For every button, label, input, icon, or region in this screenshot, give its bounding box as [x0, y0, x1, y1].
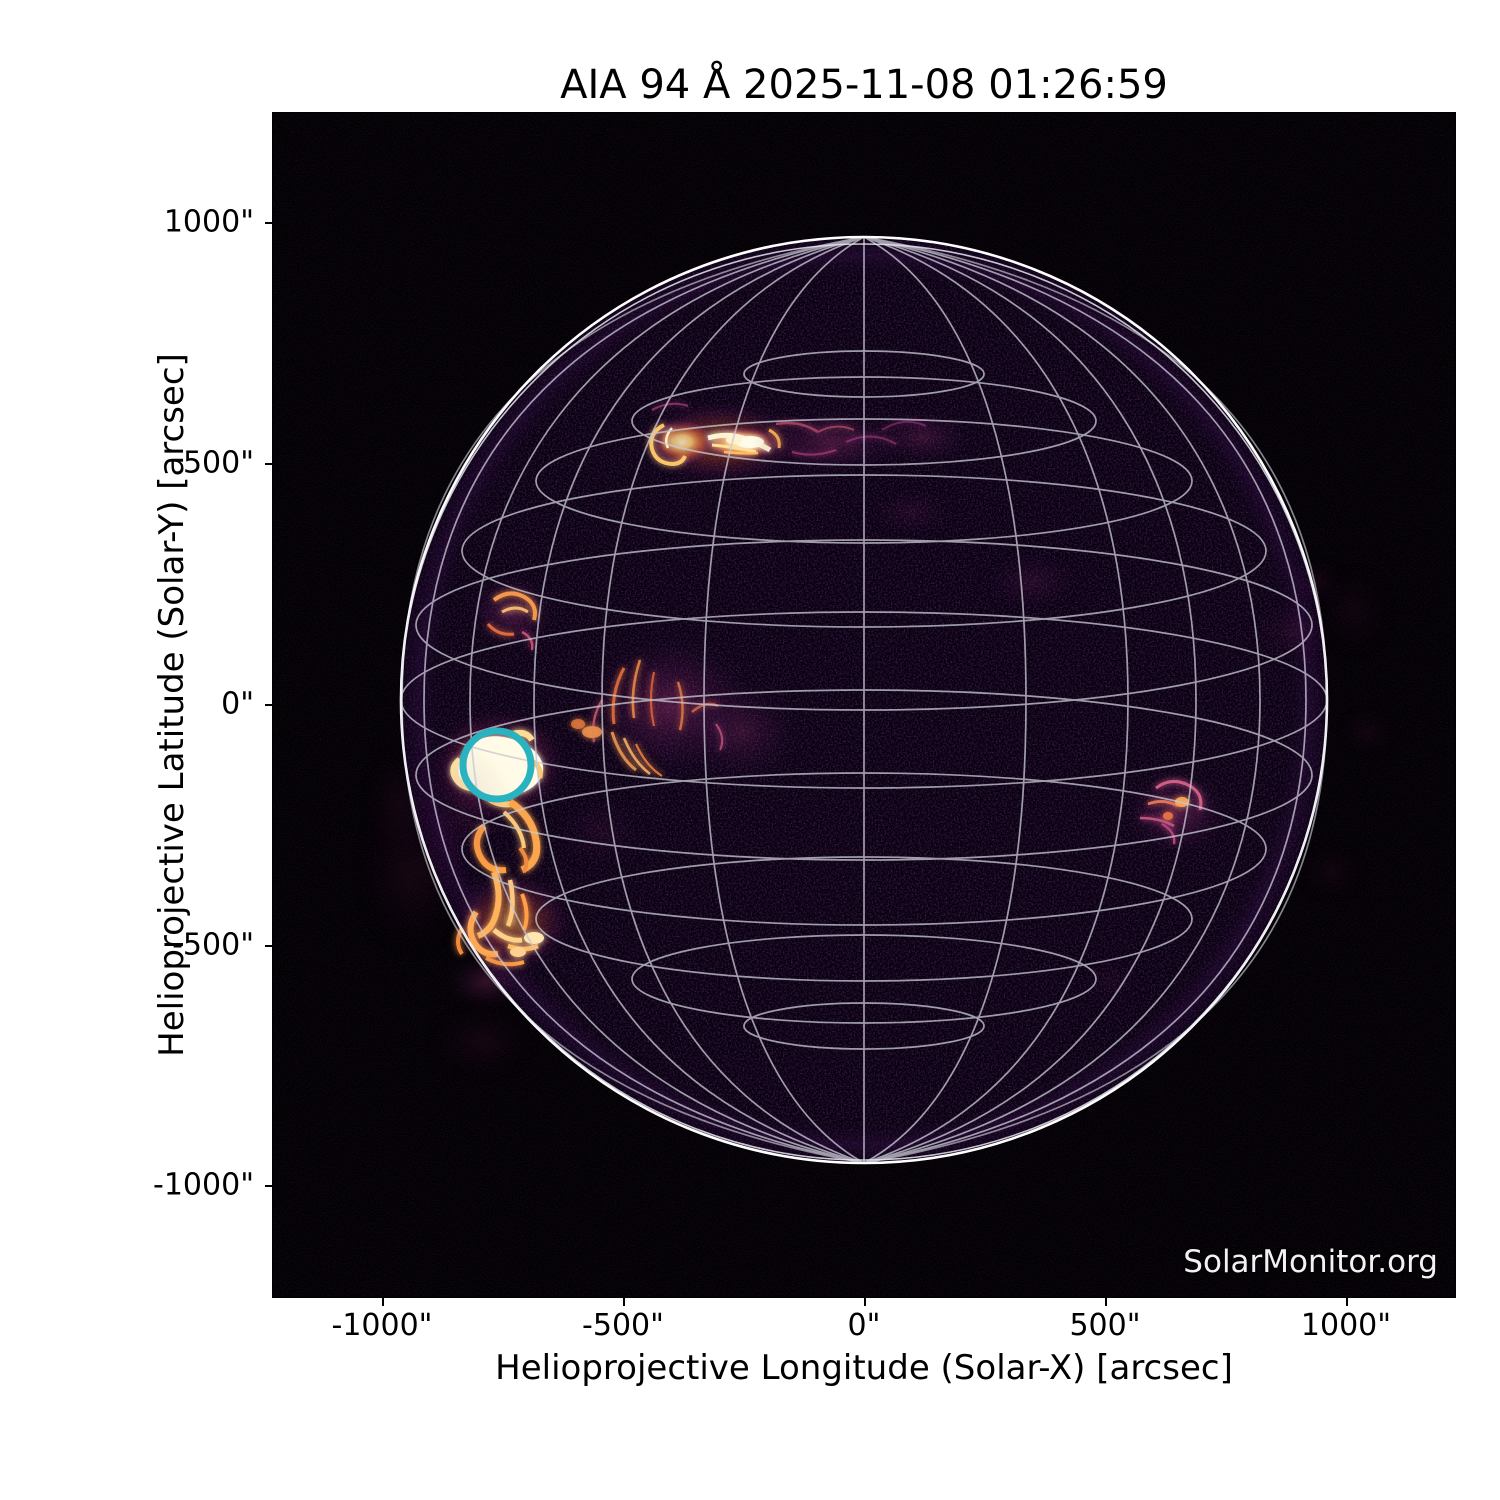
solar-image-figure: AIA 94 Å 2025-11-08 01:26:59 [0, 0, 1500, 1500]
solarmonitor-watermark: SolarMonitor.org [1183, 1244, 1438, 1280]
ytick-label-500: 500" [183, 446, 254, 481]
y-axis-label: Helioprojective Latitude (Solar-Y) [arcs… [152, 112, 192, 1298]
plage-northwest [464, 570, 560, 654]
ytick-mark-1000 [265, 222, 273, 224]
ytick-mark-500 [265, 463, 273, 465]
xtick-mark-neg500 [623, 1298, 625, 1306]
xtick-label-0: 0" [848, 1308, 881, 1343]
solar-disk-render [272, 112, 1456, 1298]
ytick-mark-neg500 [265, 945, 273, 947]
ytick-mark-0 [265, 704, 273, 706]
ytick-label-0: 0" [221, 687, 254, 722]
solar-image-plot-area: SolarMonitor.org [272, 112, 1456, 1298]
figure-title: AIA 94 Å 2025-11-08 01:26:59 [272, 62, 1456, 108]
xtick-mark-0 [864, 1298, 866, 1306]
xtick-mark-1000 [1346, 1298, 1348, 1306]
xtick-mark-500 [1105, 1298, 1107, 1306]
ytick-mark-neg1000 [265, 1185, 273, 1187]
x-axis-label: Helioprojective Longitude (Solar-X) [arc… [272, 1348, 1456, 1388]
xtick-label-neg500: -500" [582, 1308, 664, 1343]
xtick-label-1000: 1000" [1301, 1308, 1391, 1343]
xtick-mark-neg1000 [382, 1298, 384, 1306]
figure-title-text: AIA 94 Å 2025-11-08 01:26:59 [560, 62, 1168, 108]
xtick-label-500: 500" [1069, 1308, 1140, 1343]
xtick-label-neg1000: -1000" [332, 1308, 433, 1343]
